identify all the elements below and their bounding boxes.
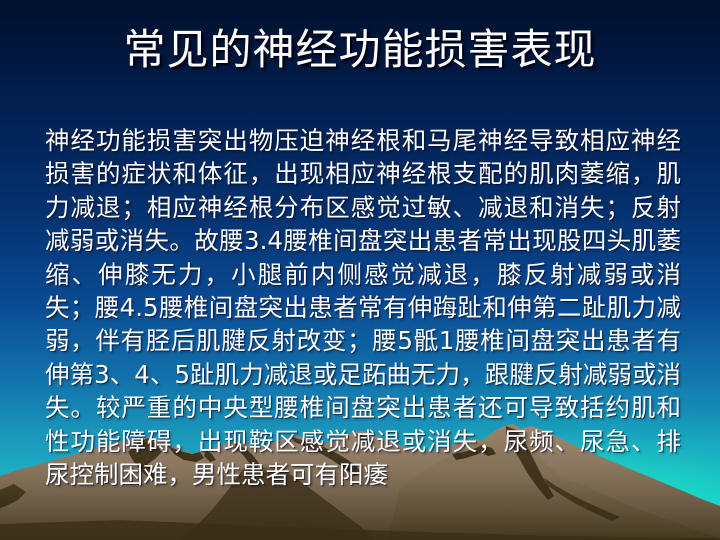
page-title: 常见的神经功能损害表现: [0, 26, 720, 73]
slide-canvas: 常见的神经功能损害表现 神经功能损害突出物压迫神经根和马尾神经导致相应神经损害的…: [0, 0, 720, 540]
slide-body-text: 神经功能损害突出物压迫神经根和马尾神经导致相应神经损害的症状和体征，出现相应神经…: [45, 124, 681, 491]
